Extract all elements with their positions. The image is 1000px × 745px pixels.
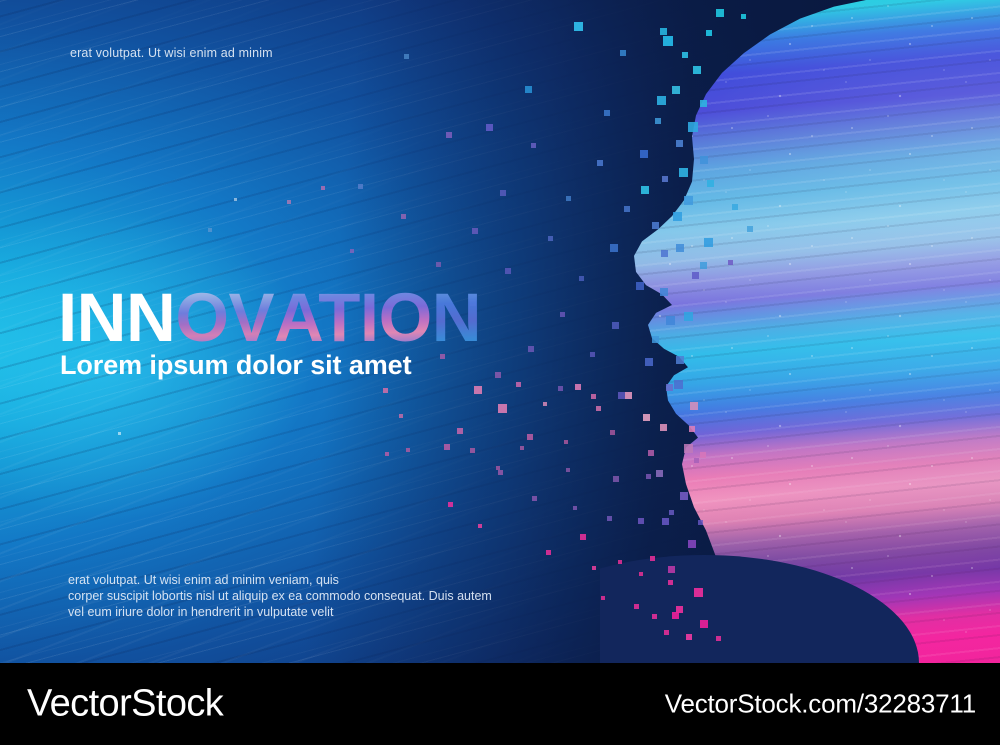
vectorstock-logo: VectorStock: [27, 683, 223, 726]
body-line-1: erat volutpat. Ut wisi enim ad minim ven…: [68, 572, 492, 588]
watermark-footer: VectorStock VectorStock.com/32283711: [0, 663, 1000, 745]
headline-segment-d: N: [432, 283, 481, 352]
headline-segment-b: OV: [175, 283, 274, 352]
top-caption: erat volutpat. Ut wisi enim ad minim: [70, 46, 273, 60]
body-copy: erat volutpat. Ut wisi enim ad minim ven…: [68, 572, 492, 620]
vectorstock-url: VectorStock.com/32283711: [665, 689, 976, 720]
artwork-area: erat volutpat. Ut wisi enim ad minim INN…: [0, 0, 1000, 663]
poster-canvas: erat volutpat. Ut wisi enim ad minim INN…: [0, 0, 1000, 745]
body-line-2: corper suscipit lobortis nisl ut aliquip…: [68, 588, 492, 604]
headline-segment-a: INN: [58, 283, 175, 352]
page-title: INNOVATION: [58, 283, 481, 352]
page-subtitle: Lorem ipsum dolor sit amet: [60, 350, 411, 381]
headline-segment-c: ATIO: [274, 283, 432, 352]
body-line-3: vel eum iriure dolor in hendrerit in vul…: [68, 604, 492, 620]
